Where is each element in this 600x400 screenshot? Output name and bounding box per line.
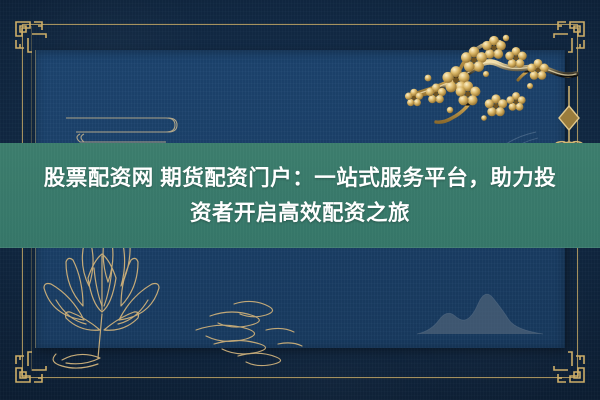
banner-image: 股票配资网 期货配资门户：一站式服务平台，助力投资者开启高效配资之旅 [0,0,600,400]
banner-title: 股票配资网 期货配资门户：一站式服务平台，助力投资者开启高效配资之旅 [35,161,565,231]
title-band: 股票配资网 期货配资门户：一站式服务平台，助力投资者开启高效配资之旅 [0,143,600,248]
